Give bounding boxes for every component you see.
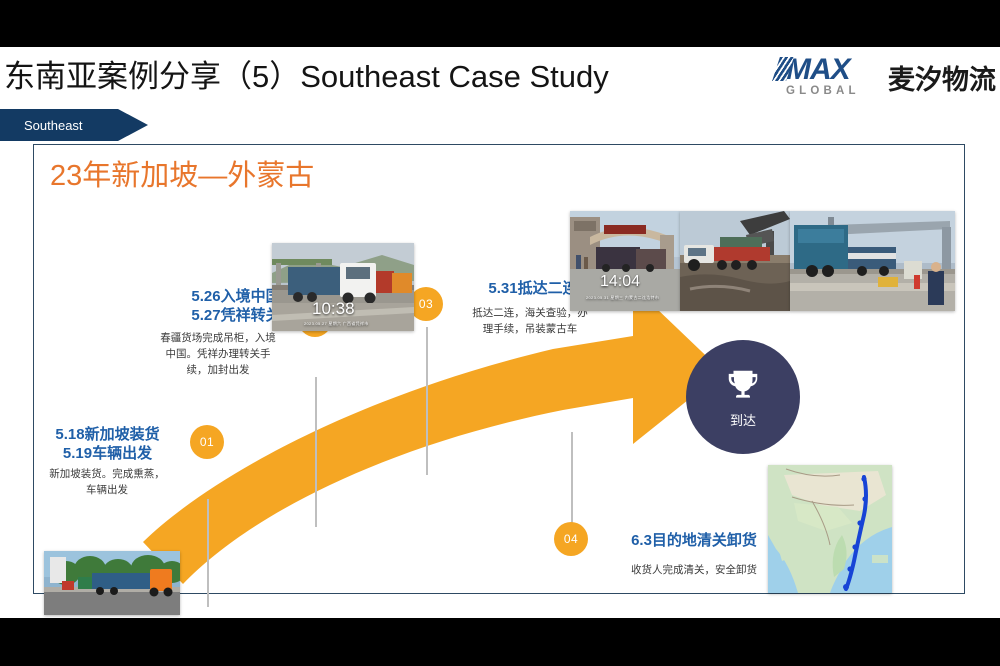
logo-max-text: MAX	[786, 55, 878, 85]
milestone-pin-4-number: 04	[564, 532, 578, 546]
photo-timestamp-1: 10:38	[312, 299, 355, 319]
photo-truck-border-china: 10:38 2023.05.27 星期六 广西省凭祥市	[272, 243, 414, 331]
photo-route-map-asia	[768, 465, 892, 593]
milestone-3-desc-line2: 理手续，吊装蒙古车	[440, 321, 620, 337]
milestone-2-desc: 春疆货场完成吊柜，入境 中国。凭祥办理转关手 续，加封出发	[140, 330, 296, 378]
milestone-4-desc: 收货人完成清关，安全卸货	[610, 562, 778, 578]
slide-header: 东南亚案例分享（5）Southeast Case Study MAX GLOBA…	[0, 47, 1000, 107]
destination-badge: 到达	[686, 340, 800, 454]
milestone-1-desc-line2: 车辆出发	[34, 482, 180, 498]
letterbox-top	[0, 0, 1000, 47]
pin-line-1	[207, 499, 209, 607]
logo-global-text: GLOBAL	[786, 84, 878, 98]
milestone-1-heading-line2: 5.19车辆出发	[40, 444, 175, 463]
photo-weighbridge-station	[790, 211, 955, 311]
photo-timestamp-sub-2: 2023.05.31 星期三 内蒙古二连浩特市	[586, 295, 659, 301]
letterbox-bottom	[0, 618, 1000, 666]
photo-loading-truck-singapore	[44, 551, 180, 615]
milestone-pin-1[interactable]: 01	[190, 425, 224, 459]
milestone-4-desc-line1: 收货人完成清关，安全卸货	[610, 562, 778, 578]
milestone-2-desc-line2: 中国。凭祥办理转关手	[140, 346, 296, 362]
pin-line-4	[571, 432, 573, 527]
milestone-1-desc: 新加坡装货。完成熏蒸， 车辆出发	[34, 466, 180, 498]
tab-southeast[interactable]: Southeast	[0, 109, 148, 141]
max-global-logo: MAX GLOBAL	[786, 55, 878, 99]
milestone-1-heading-line1: 5.18新加坡装货	[40, 425, 175, 444]
milestone-4-heading-line1: 6.3目的地清关卸货	[614, 531, 774, 550]
pin-line-2	[315, 377, 317, 527]
milestone-pin-3-number: 03	[419, 297, 433, 311]
milestone-2-desc-line1: 春疆货场完成吊柜，入境	[140, 330, 296, 346]
trophy-icon	[723, 366, 763, 404]
brand-logo: MAX GLOBAL 麦汐物流	[786, 55, 996, 99]
milestone-2-desc-line3: 续，加封出发	[140, 362, 296, 378]
photo-timestamp-sub-1: 2023.05.27 星期六 广西省凭祥市	[304, 321, 369, 327]
photo-erenhot-border-gate: 14:04 2023.05.31 星期三 内蒙古二连浩特市	[570, 211, 680, 311]
milestone-4-heading: 6.3目的地清关卸货	[614, 531, 774, 550]
milestone-pin-3[interactable]: 03	[409, 287, 443, 321]
photo-crane-loading-container	[680, 211, 790, 311]
milestone-pin-4[interactable]: 04	[554, 522, 588, 556]
slide-canvas: 东南亚案例分享（5）Southeast Case Study MAX GLOBA…	[0, 47, 1000, 618]
tab-southeast-label: Southeast	[24, 118, 83, 133]
arrow-dot-1	[306, 511, 327, 532]
milestone-1-heading: 5.18新加坡装货 5.19车辆出发	[40, 425, 175, 463]
pin-line-3	[426, 327, 428, 475]
logo-chinese-name: 麦汐物流	[888, 58, 996, 97]
page-title: 东南亚案例分享（5）Southeast Case Study	[4, 47, 609, 107]
milestone-1-desc-line1: 新加坡装货。完成熏蒸，	[34, 466, 180, 482]
destination-label: 到达	[730, 410, 756, 429]
milestone-pin-1-number: 01	[200, 435, 214, 449]
photo-timestamp-2: 14:04	[600, 273, 640, 291]
